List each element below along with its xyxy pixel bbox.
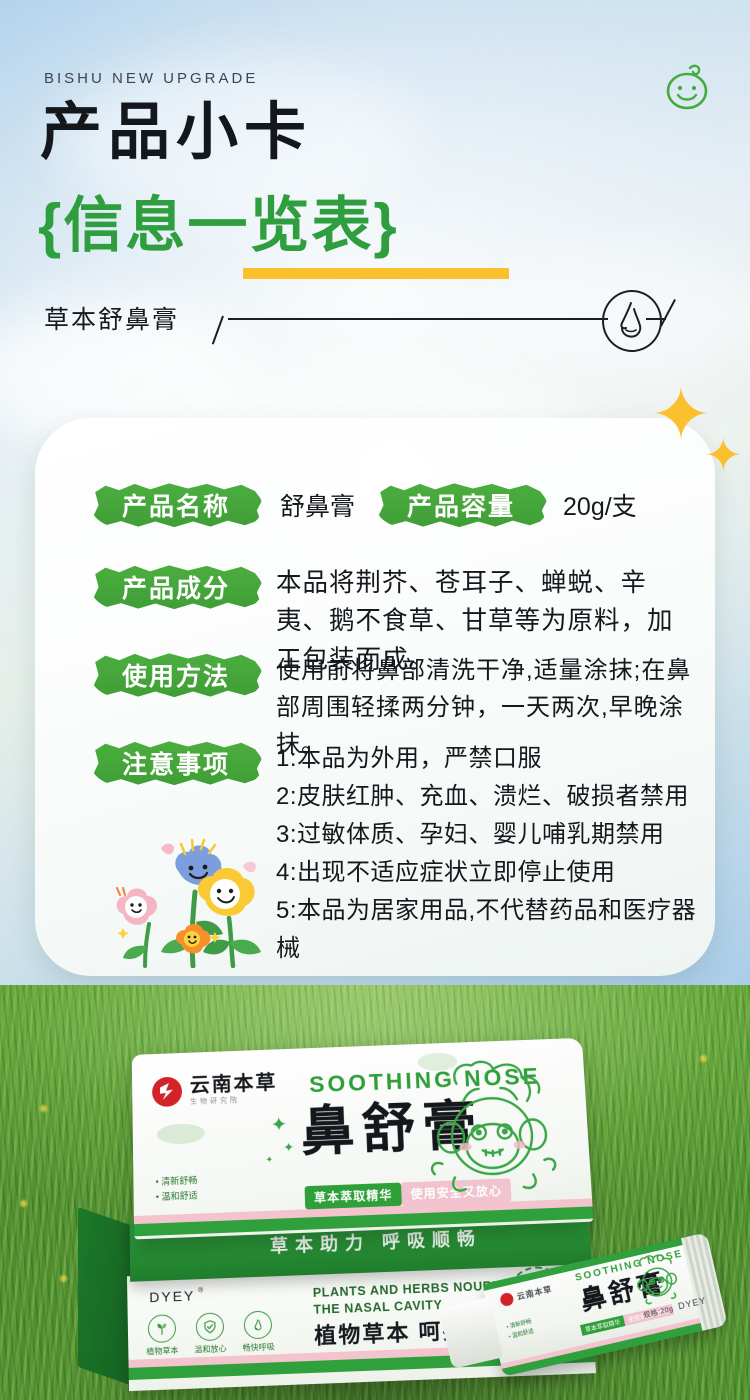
- caution-item: 4:出现不适应症状立即停止使用: [276, 854, 710, 892]
- product-info-card-page: BISHU NEW UPGRADE 产品小卡 {信息一览表} 草本舒鼻膏 ✦ ✦: [0, 0, 750, 1400]
- label-cautions: 注意事项: [90, 740, 262, 786]
- product-photo: DYEY ® 植物草本 温和放心: [0, 985, 750, 1400]
- page-title: 产品小卡: [40, 102, 312, 164]
- caution-item: 1:本品为外用，严禁口服: [276, 740, 710, 778]
- cloud-shape: [157, 1123, 205, 1145]
- nose-icon: [244, 1310, 273, 1339]
- brand-block: 云南本草 生物研究院: [152, 1073, 278, 1108]
- sparkle-icon: ✦: [650, 378, 712, 452]
- trademark-symbol: ®: [198, 1287, 203, 1294]
- sparkle-icon: ✦: [283, 1140, 294, 1156]
- value-product-volume: 20g/支: [563, 487, 637, 523]
- box-front-panel: 云南本草 生物研究院 SOOTHING NOSE 鼻舒膏 ✦ ✦ ✦ 草本萃取精…: [132, 1038, 594, 1240]
- label-product-volume: 产品容量: [375, 482, 547, 528]
- sparkle-icon: ✦: [270, 1112, 287, 1137]
- row-name-volume: 产品名称 舒鼻膏 产品容量 20g/支: [90, 482, 690, 528]
- label-ingredients: 产品成分: [90, 564, 262, 610]
- green-title: {信息一览表}: [38, 196, 399, 256]
- label-text: 产品名称: [122, 487, 230, 523]
- info-card: 产品名称 舒鼻膏 产品容量 20g/支 产品成分 本品将荆芥、苍耳子、蝉蜕、辛夷…: [35, 418, 715, 976]
- header-rule: [228, 318, 608, 320]
- tag-green: 草本萃取精华: [305, 1183, 402, 1210]
- sparkle-icon: ✦: [704, 432, 743, 478]
- label-text: 产品成分: [122, 569, 230, 605]
- nose-icon: [602, 290, 662, 352]
- brace-open: {: [38, 192, 63, 259]
- value-product-name: 舒鼻膏: [280, 487, 355, 523]
- shield-check-icon: [196, 1312, 225, 1341]
- brand-sub-text: 生物研究院: [190, 1096, 278, 1107]
- title-underline: [243, 268, 509, 279]
- tag-green: 草本萃取精华: [580, 1315, 625, 1336]
- leaf-icon: [148, 1314, 177, 1343]
- cautions-list: 1:本品为外用，严禁口服 2:皮肤红肿、充血、溃烂、破损者禁用 3:过敏体质、孕…: [276, 740, 710, 967]
- caution-item: 2:皮肤红肿、充血、溃烂、破损者禁用: [276, 778, 710, 816]
- product-subtitle: 草本舒鼻膏: [44, 300, 179, 336]
- feature-label: 植物草本: [146, 1345, 178, 1357]
- baby-face-icon: [660, 62, 716, 114]
- kicker-text: BISHU NEW UPGRADE: [44, 70, 258, 87]
- green-title-text: 信息一览表: [63, 192, 373, 259]
- sparkle-icon: ✦: [265, 1154, 273, 1165]
- label-usage: 使用方法: [90, 652, 262, 698]
- bullet-item: • 温和舒适: [156, 1189, 198, 1206]
- feature-item: 植物草本: [146, 1314, 179, 1357]
- label-text: 产品容量: [407, 487, 515, 523]
- brace-close: }: [373, 192, 398, 259]
- monkey-mascot-icon: [425, 1052, 570, 1201]
- brand-logo-icon: [152, 1077, 182, 1108]
- bullet-item: • 清新舒畅: [155, 1173, 197, 1190]
- feature-label: 畅快呼吸: [242, 1341, 274, 1353]
- label-product-name: 产品名称: [90, 482, 262, 528]
- caution-item: 3:过敏体质、孕妇、婴儿哺乳期禁用: [276, 816, 710, 854]
- brand-name-cn: 云南本草: [190, 1073, 278, 1097]
- label-text: 注意事项: [122, 745, 230, 781]
- feature-item: 畅快呼吸: [242, 1310, 275, 1353]
- feature-label: 温和放心: [194, 1343, 226, 1355]
- feature-item: 温和放心: [194, 1312, 227, 1355]
- brand-name-cn: 云南本草: [516, 1284, 554, 1303]
- flowers-icon: [97, 836, 277, 968]
- tube-crimp: [681, 1232, 728, 1330]
- caution-item: 5:本品为居家用品,不代替药品和医疗器械: [276, 892, 710, 968]
- sub-brand-text: DYEY: [149, 1288, 195, 1306]
- brand-logo-icon: [499, 1292, 515, 1308]
- label-text: 使用方法: [122, 657, 230, 693]
